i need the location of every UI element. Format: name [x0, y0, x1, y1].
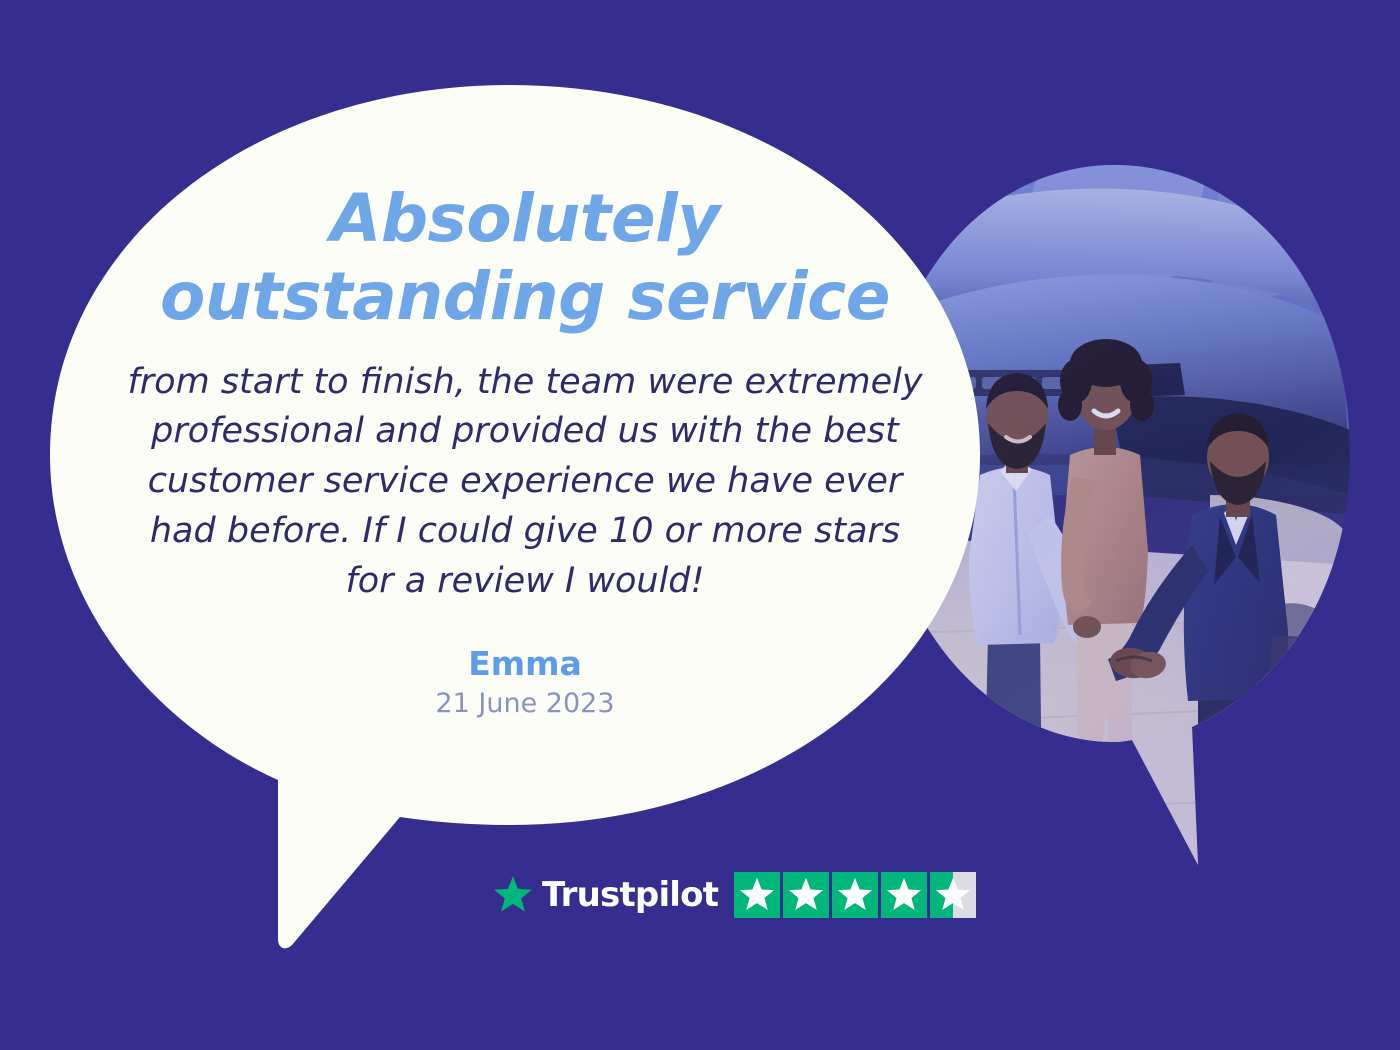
star-icon	[885, 876, 923, 914]
review-headline-line1: Absolutely	[330, 180, 720, 257]
testimonial-card: Absolutely outstanding service from star…	[0, 0, 1400, 1050]
star-rating-1[interactable]	[734, 872, 780, 918]
quote-content: Absolutely outstanding service from star…	[95, 180, 955, 721]
star-rating-3[interactable]	[832, 872, 878, 918]
review-date: 21 June 2023	[95, 688, 955, 720]
trustpilot-star-icon	[492, 874, 534, 916]
star-rating-5[interactable]	[930, 872, 976, 918]
star-rating-4[interactable]	[881, 872, 927, 918]
review-attribution: Emma 21 June 2023	[95, 646, 955, 721]
trustpilot-rating[interactable]: Trustpilot	[492, 866, 976, 924]
star-rating-2[interactable]	[783, 872, 829, 918]
star-icon	[836, 876, 874, 914]
trustpilot-logo[interactable]: Trustpilot	[492, 874, 718, 916]
reviewer-name: Emma	[95, 646, 955, 682]
star-icon	[738, 876, 776, 914]
star-half-icon	[934, 876, 972, 914]
trustpilot-stars[interactable]	[734, 872, 976, 918]
review-body: from start to finish, the team were extr…	[125, 358, 925, 606]
trustpilot-wordmark: Trustpilot	[542, 878, 718, 912]
review-headline-line2: outstanding service	[125, 258, 925, 336]
star-icon	[787, 876, 825, 914]
review-headline: Absolutely outstanding service	[95, 180, 955, 336]
